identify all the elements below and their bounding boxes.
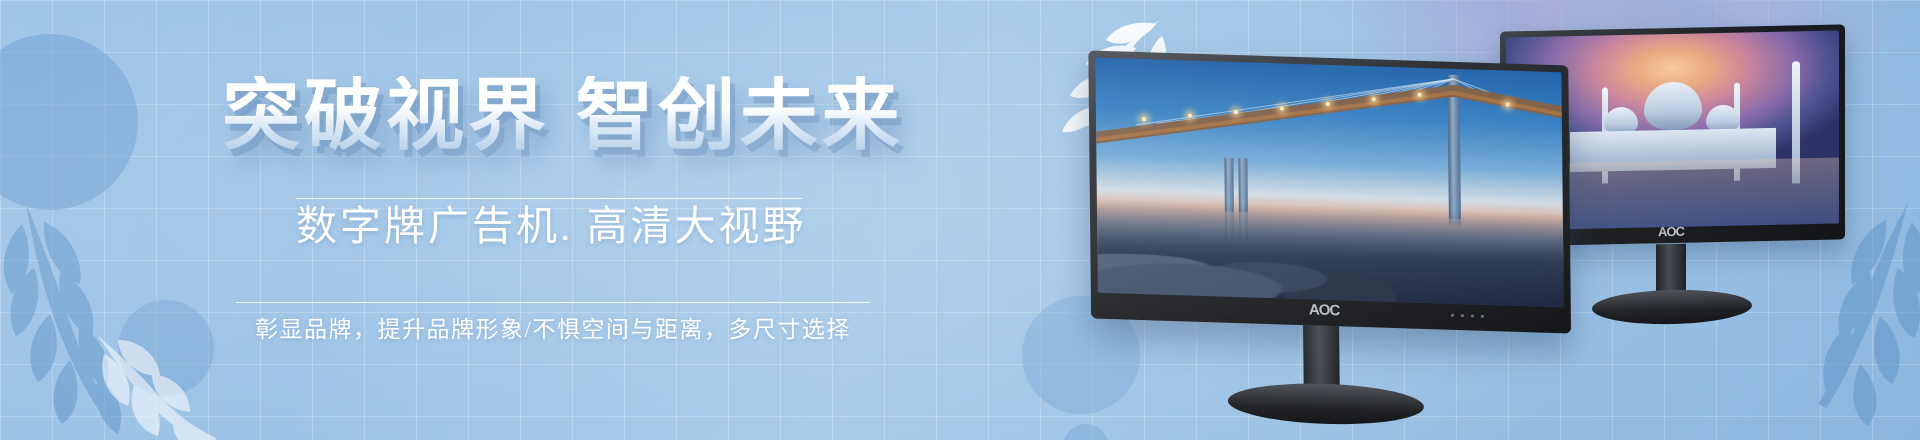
bridge-lamp [1234,110,1238,114]
bridge-lamp [1372,97,1376,101]
dome-main [1644,81,1702,130]
promo-banner: 突破视界 智创未来 数字牌广告机. 高清大视野 彰显品牌，提升品牌形象/不惧空间… [0,0,1920,440]
circle-center-small [1063,424,1109,440]
bridge-lamp [1280,106,1284,110]
bridge-lamp [1506,103,1510,107]
monitor-base-back [1592,288,1752,325]
monitor-screen-front [1095,58,1563,308]
page-title: 突破视界 智创未来 [222,76,904,154]
monitor-base-front [1228,381,1424,427]
bridge-lamp [1142,117,1146,121]
bridge-lamp [1418,93,1422,97]
subtitle: 数字牌广告机. 高清大视野 [296,192,802,252]
bridge-lamp [1326,102,1330,106]
brand-logo-front: AOC [1309,301,1340,319]
brand-logo-back: AOC [1658,224,1684,240]
text-block: 突破视界 智创未来 数字牌广告机. 高清大视野 彰显品牌，提升品牌形象/不惧空间… [0,0,900,440]
divider-bottom [236,302,870,303]
bridge-lamp [1188,114,1192,118]
monitor-bezel-front [1088,50,1571,333]
description-text: 彰显品牌，提升品牌形象/不惧空间与距离，多尺寸选择 [236,310,870,344]
rocky-shoreline [1097,199,1564,308]
aoc-monitor-front: AOC [1088,50,1571,395]
